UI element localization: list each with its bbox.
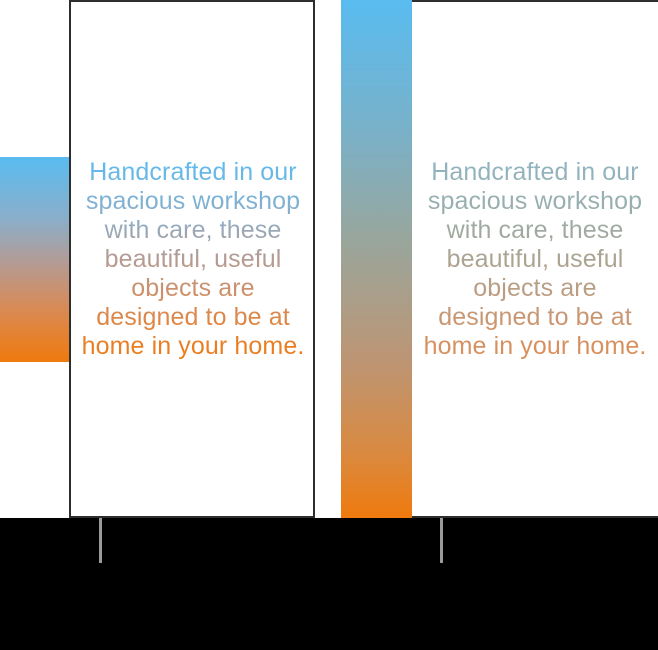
- gradient-swatch-right: [341, 0, 412, 518]
- stage-tick-right: [440, 518, 443, 563]
- gradient-text-left: Handcrafted in our spacious workshop wit…: [79, 158, 307, 361]
- stage-tick-left: [99, 518, 102, 563]
- gradient-text-right: Handcrafted in our spacious workshop wit…: [420, 158, 650, 361]
- gradient-swatch-left: [0, 157, 69, 362]
